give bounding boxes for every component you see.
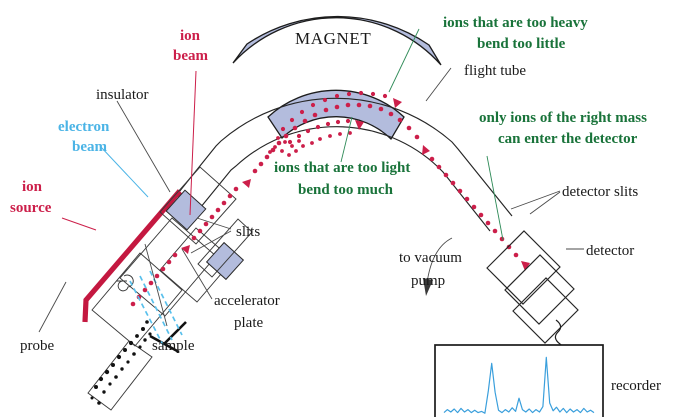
too-heavy-label-line-1: ions that are too heavy [443,15,588,31]
electron-beam-label-line-1: electron [58,119,110,135]
mass-spectrometer-figure: MAGNET [0,0,675,417]
flight-tube-label: flight tube [464,63,526,79]
insulator-label: insulator [96,87,149,103]
leader-right-mass [487,156,503,240]
ion-beam-label-line-1: ion [180,28,201,44]
ion-source-label-line-2: source [10,200,52,216]
too-light-label-line-1: ions that are too light [274,160,410,176]
magnet-label: MAGNET [295,29,371,48]
leader-sample [145,244,167,326]
leader-electron-beam [100,146,148,197]
vacuum-pump-label-line-1: to vacuum [399,250,462,266]
leader-detector-slits-2 [530,192,560,214]
leader-insulator [117,101,170,192]
detector-slit-housing-1 [487,231,560,304]
right-mass-label-line-2: can enter the detector [498,131,638,147]
diagram-canvas: MAGNET [0,0,675,417]
recorder-frame [435,345,603,417]
detector-slits-label: detector slits [562,184,638,200]
leader-too-light [341,117,352,162]
slits-label: slits [236,224,260,240]
leader-flight-tube [426,68,451,101]
probe-shaft [88,341,152,410]
probe-stipple-icon [91,320,152,405]
detector-body [513,278,578,343]
accelerator-plate-label-line-1: accelerator [214,293,280,309]
leader-probe [39,282,66,332]
right-mass-label-line-1: only ions of the right mass [479,110,647,126]
too-heavy-label-line-2: bend too little [477,36,566,52]
ion-source-group [85,193,233,410]
leader-detector-slits-1 [511,191,560,209]
leader-ion-beam [190,71,196,215]
leader-too-heavy [389,29,419,92]
accelerator-plate-label-line-2: plate [234,315,263,331]
electron-beam-label-line-2: beam [72,139,108,155]
sample-label: sample [152,338,195,354]
leader-ion-source [62,218,96,230]
ion-source-label-line-1: ion [22,179,43,195]
detector-label: detector [586,243,634,259]
probe-label: probe [20,338,54,354]
ion-beam-label-line-2: beam [173,48,209,64]
recorder-label: recorder [611,378,661,394]
labels-group: ion beam insulator electron beam ion sou… [10,15,661,394]
flight-tube-outer-wall [196,127,490,231]
leader-slits-1 [197,218,231,229]
leader-accelerator-plate [182,249,212,299]
recorder-group [435,345,603,417]
vacuum-pump-label-line-2: pump [411,273,445,289]
too-light-label-line-2: bend too much [298,182,394,198]
